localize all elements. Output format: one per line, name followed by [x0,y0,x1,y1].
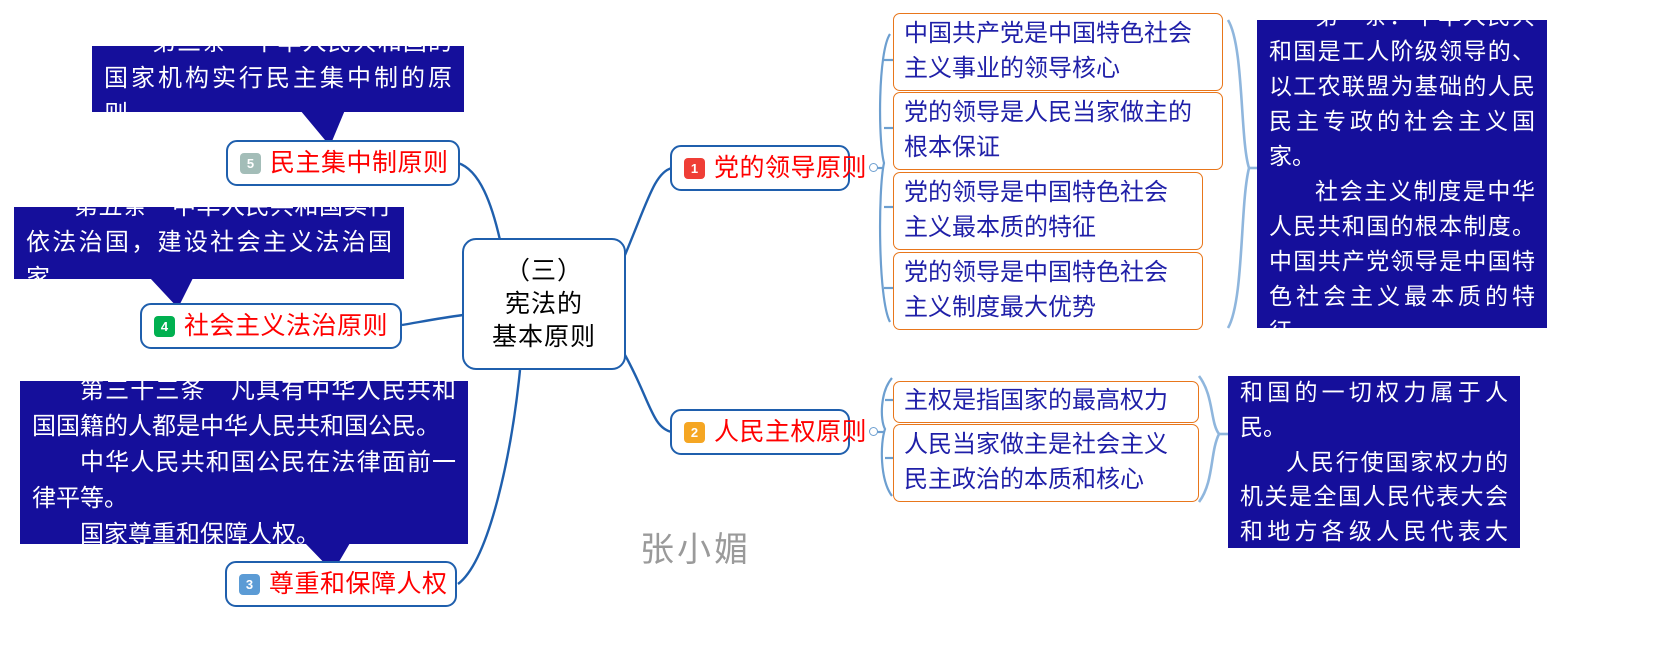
note-article-five-p1: 第五条 中华人民共和国实行依法治国，建设社会主义法治国家。 [26,189,392,297]
detail-box-sovereignty-1[interactable]: 主权是指国家的最高权力 [893,381,1199,423]
branch-label-party-leadership: 党的领导原则 [714,156,867,181]
central-topic-line-2: 宪法的 [505,288,583,321]
branch-node-democratic-centralism[interactable]: 5 民主集中制原则 [226,140,460,186]
branch-node-human-rights[interactable]: 3 尊重和保障人权 [225,561,457,607]
detail-box-party-1-line-1: 中国共产党是中国特色社会 [904,17,1192,51]
detail-box-party-2-line-2: 根本保证 [904,131,1192,165]
branch-badge-4: 4 [154,316,175,337]
note-article-two-p2: 人民行使国家权力的机关是全国人民代表大会和地方各级人民代表大会。 [1240,445,1508,585]
watermark-author: 张小媚 [640,522,751,571]
detail-box-sovereignty-2-line-1: 人民当家做主是社会主义 [904,428,1168,462]
collapse-handle-sovereignty[interactable] [869,427,878,436]
branch-label-socialist-rule-of-law: 社会主义法治原则 [184,314,388,339]
branch-label-democratic-centralism: 民主集中制原则 [270,151,449,176]
detail-box-party-4-line-1: 党的领导是中国特色社会 [904,256,1168,290]
note-article-thirtythree-p1: 第三十三条 凡具有中华人民共和国国籍的人都是中华人民共和国公民。 [32,373,456,445]
detail-box-party-2[interactable]: 党的领导是人民当家做主的 根本保证 [893,92,1223,170]
note-article-thirtythree: 第三十三条 凡具有中华人民共和国国籍的人都是中华人民共和国公民。 中华人民共和国… [20,381,468,544]
note-article-thirtythree-p3: 国家尊重和保障人权。 [32,517,456,553]
note-article-five: 第五条 中华人民共和国实行依法治国，建设社会主义法治国家。 [14,207,404,279]
collapse-handle-party[interactable] [869,163,878,172]
branch-badge-1: 1 [684,158,705,179]
detail-box-sovereignty-2-line-2: 民主政治的本质和核心 [904,463,1168,497]
branch-badge-3: 3 [239,574,260,595]
detail-box-party-3-line-1: 党的领导是中国特色社会 [904,176,1168,210]
branch-node-popular-sovereignty[interactable]: 2 人民主权原则 [670,409,850,455]
note-article-two: 第二条 中华人民共和国的一切权力属于人民。 人民行使国家权力的机关是全国人民代表… [1228,376,1520,548]
note-article-one-p2: 社会主义制度是中华人民共和国的根本制度。中国共产党领导是中国特色社会主义最本质的… [1269,174,1535,349]
note-article-one-p1: 第一条：中华人民共和国是工人阶级领导的、以工农联盟为基础的人民民主专政的社会主义… [1269,0,1535,174]
detail-box-party-4-line-2: 主义制度最大优势 [904,291,1168,325]
note-article-three: 第三条 中华人民共和国的国家机构实行民主集中制的原则。 [92,46,464,112]
note-article-one: 第一条：中华人民共和国是工人阶级领导的、以工农联盟为基础的人民民主专政的社会主义… [1257,20,1547,328]
note-article-two-p1: 第二条 中华人民共和国的一切权力属于人民。 [1240,340,1508,445]
detail-box-sovereignty-1-line-1: 主权是指国家的最高权力 [904,384,1168,418]
note-article-three-p1: 第三条 中华人民共和国的国家机构实行民主集中制的原则。 [104,25,452,133]
central-topic-line-3: 基本原则 [492,321,596,354]
mindmap-canvas: 第三条 中华人民共和国的国家机构实行民主集中制的原则。 第五条 中华人民共和国实… [0,0,1679,668]
branch-badge-5: 5 [240,153,261,174]
detail-box-party-4[interactable]: 党的领导是中国特色社会 主义制度最大优势 [893,252,1203,330]
central-topic-line-1: （三） [505,255,583,288]
detail-box-party-3-line-2: 主义最本质的特征 [904,211,1168,245]
branch-label-human-rights: 尊重和保障人权 [269,572,448,597]
branch-badge-2: 2 [684,422,705,443]
detail-box-party-3[interactable]: 党的领导是中国特色社会 主义最本质的特征 [893,172,1203,250]
branch-node-party-leadership[interactable]: 1 党的领导原则 [670,145,850,191]
note-article-thirtythree-p2: 中华人民共和国公民在法律面前一律平等。 [32,445,456,517]
detail-box-sovereignty-2[interactable]: 人民当家做主是社会主义 民主政治的本质和核心 [893,424,1199,502]
detail-box-party-1[interactable]: 中国共产党是中国特色社会 主义事业的领导核心 [893,13,1223,91]
branch-label-popular-sovereignty: 人民主权原则 [714,420,867,445]
detail-box-party-2-line-1: 党的领导是人民当家做主的 [904,96,1192,130]
detail-box-party-1-line-2: 主义事业的领导核心 [904,52,1192,86]
branch-node-socialist-rule-of-law[interactable]: 4 社会主义法治原则 [140,303,402,349]
central-topic[interactable]: （三） 宪法的 基本原则 [462,238,626,370]
